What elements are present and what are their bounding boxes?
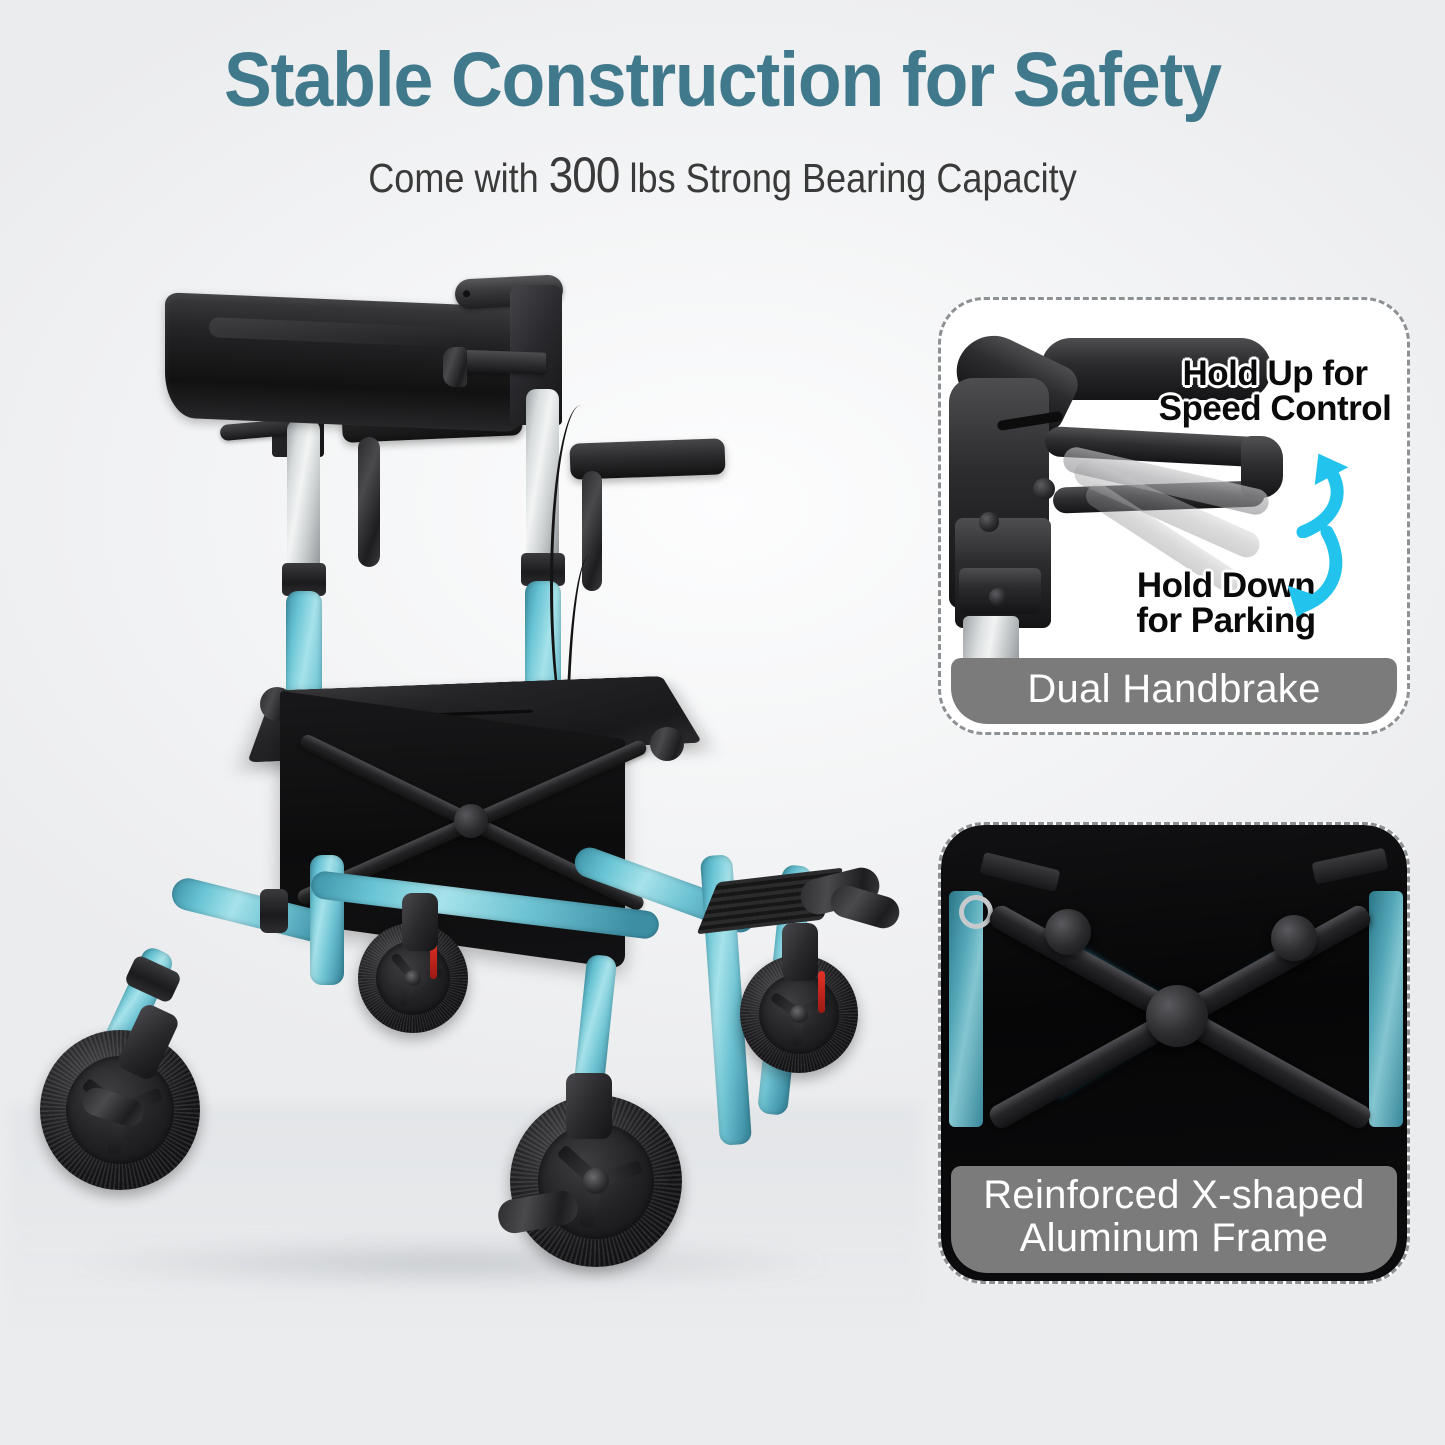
right-footrest-arm-2 (827, 882, 903, 932)
capacity-value: 300 (549, 147, 620, 203)
callout-panel-dual-handbrake: Hold Up for Speed Control Hold Down for … (938, 297, 1410, 735)
fork-rear-right (782, 923, 818, 981)
right-lever-tip (443, 347, 467, 387)
annotation-speed-control: Hold Up for Speed Control (1141, 356, 1407, 426)
page-title: Stable Construction for Safety (51, 36, 1395, 125)
callout-panel-x-frame: Reinforced X-shaped Aluminum Frame (938, 822, 1410, 1284)
annotation-line-1: Hold Up for (1141, 356, 1407, 391)
front-left-clamp (260, 889, 288, 933)
fork-front-right (566, 1073, 612, 1139)
strap-left (979, 852, 1060, 892)
brake-indicator-right (818, 971, 825, 1013)
bolt-icon (1033, 478, 1055, 500)
panel-label-dual-handbrake: Dual Handbrake (951, 658, 1397, 724)
subtitle-suffix: lbs Strong Bearing Capacity (619, 155, 1076, 201)
x-frame-center-pivot (1146, 985, 1208, 1047)
infographic-page: Stable Construction for Safety Come with… (0, 0, 1445, 1445)
strap-right (1312, 848, 1389, 885)
cross-brace-pivot (454, 804, 488, 838)
x-frame-pivot-right (1271, 915, 1317, 961)
arrow-down-icon (1275, 522, 1365, 622)
panel-label-line-2: Aluminum Frame (961, 1217, 1387, 1259)
annotation-line-2: Speed Control (1141, 391, 1407, 426)
d-ring-icon (959, 895, 993, 929)
product-photo-rollator (10, 255, 920, 1405)
panel-label-x-frame: Reinforced X-shaped Aluminum Frame (951, 1166, 1397, 1273)
fork-rear-left (402, 893, 438, 951)
page-subtitle: Come with 300 lbs Strong Bearing Capacit… (87, 146, 1359, 204)
panel-label-line-1: Reinforced X-shaped (961, 1174, 1387, 1216)
seat-right-edge-cap (650, 727, 684, 761)
product-shadow (70, 1239, 830, 1287)
wheel-hub (583, 1168, 609, 1194)
bolt-icon (979, 512, 999, 532)
left-armrest-support (358, 437, 380, 567)
x-frame-pivot-left (1045, 909, 1091, 955)
wheel-hub (790, 1005, 808, 1023)
left-brake-cable (310, 435, 354, 685)
frame-side-right (1369, 891, 1403, 1127)
bolt-icon (989, 588, 1007, 606)
subtitle-prefix: Come with (368, 155, 548, 201)
